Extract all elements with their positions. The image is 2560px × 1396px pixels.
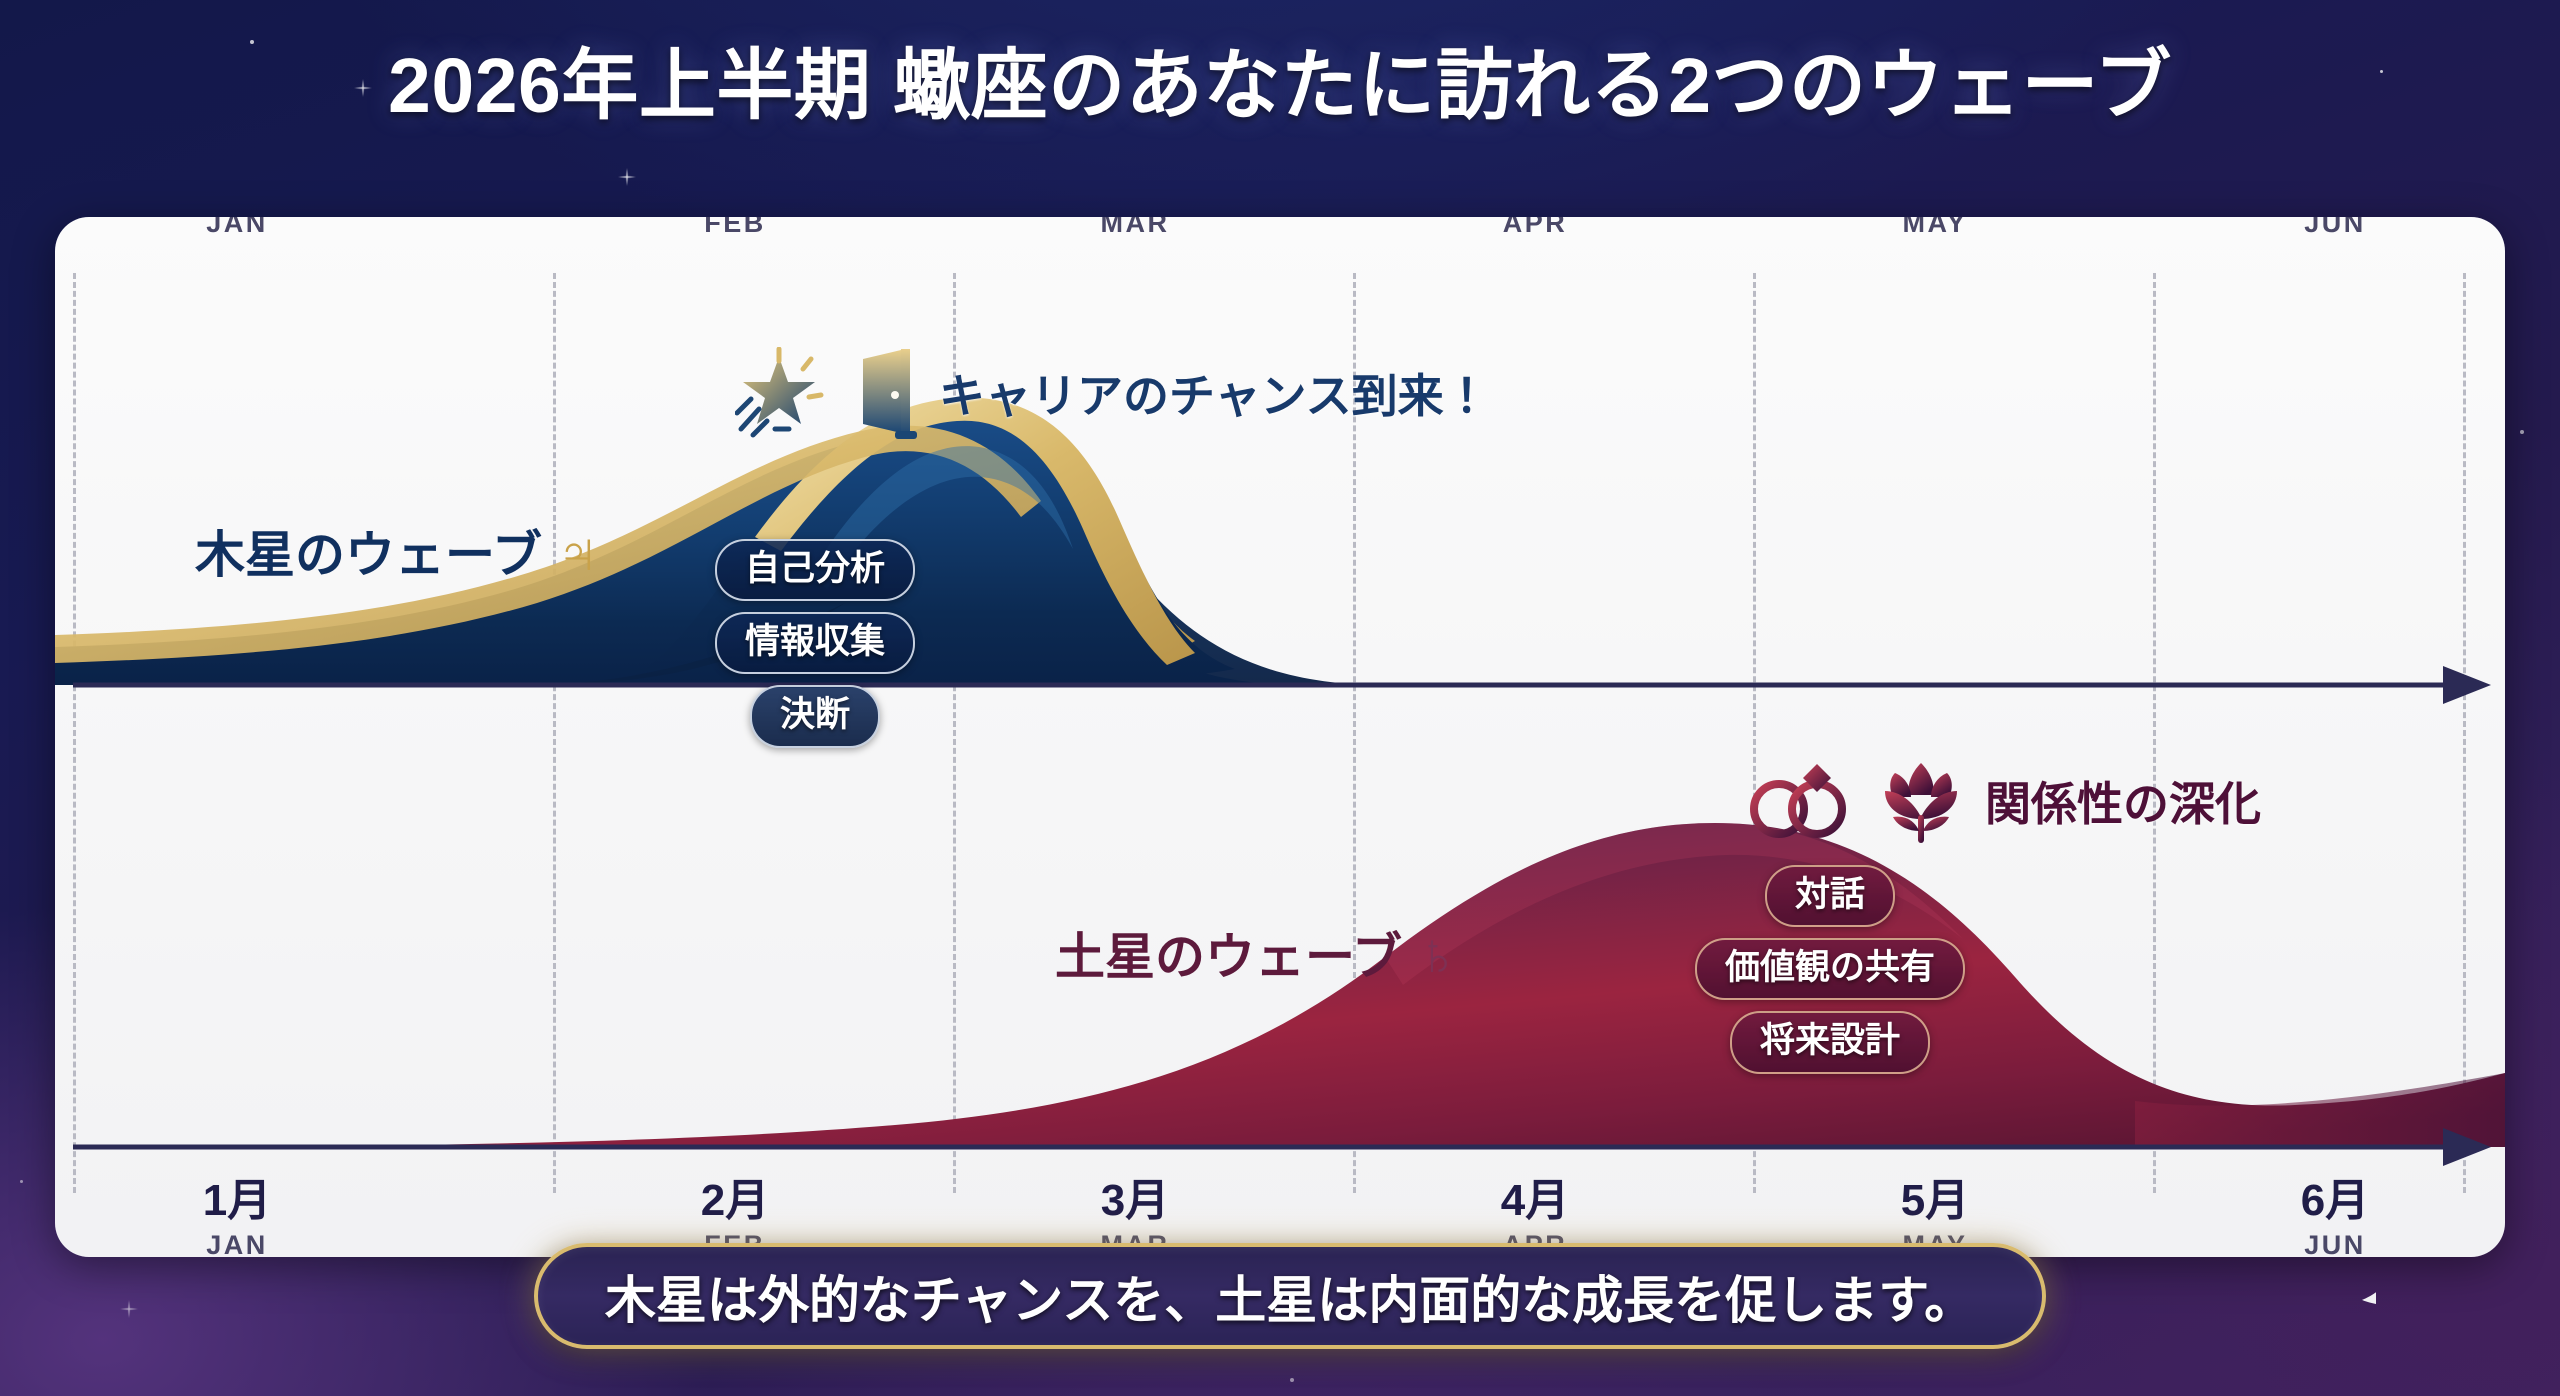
month-jp: 3月 [1035, 1179, 1235, 1223]
jupiter-symbol-icon: ♃ [556, 524, 600, 582]
saturn-callout: 関係性の深化 [1745, 757, 2261, 845]
jupiter-wave-name-text: 木星のウェーブ [195, 515, 542, 587]
jupiter-callout: キャリアのチャンス到来！ [735, 345, 1490, 441]
month-jp: 1月 [137, 1179, 337, 1223]
saturn-axis [73, 1128, 2491, 1166]
month-label-top-jun: 6月 JUN [2235, 217, 2435, 239]
saturn-symbol-icon: ♄ [1416, 926, 1460, 984]
month-jp: 4月 [1435, 1179, 1635, 1223]
jupiter-keyword-pill[interactable]: 情報収集 [715, 612, 915, 674]
open-door-icon [851, 345, 923, 441]
summary-caption-bar: 木星は外的なチャンスを、土星は内面的な成長を促します。 [534, 1243, 2046, 1349]
flower-icon [1873, 757, 1969, 845]
month-label-top-jan: 1月 JAN [137, 217, 337, 239]
gridline-jun [2153, 273, 2156, 1193]
saturn-keyword-pill[interactable]: 価値観の共有 [1695, 938, 1965, 1000]
gridline-end [2463, 273, 2466, 1193]
jupiter-callout-text: キャリアのチャンス到来！ [939, 360, 1490, 426]
jupiter-keyword-stack: 自己分析 情報収集 決断 [715, 539, 915, 748]
saturn-keyword-stack: 対話 価値観の共有 将来設計 [1695, 865, 1965, 1074]
month-label-top-may: 5月 MAY [1835, 217, 2035, 239]
month-label-bottom-jan: 1月 JAN [137, 1179, 337, 1257]
saturn-callout-text: 関係性の深化 [1985, 768, 2261, 834]
month-en: JAN [137, 217, 337, 239]
month-jp: 5月 [1835, 1179, 2035, 1223]
month-en: APR [1435, 217, 1635, 239]
sparkle-star-icon [735, 347, 835, 439]
jupiter-keyword-pill[interactable]: 決断 [750, 685, 880, 747]
card-tail-decoration [2296, 1245, 2376, 1311]
jupiter-keyword-pill[interactable]: 自己分析 [715, 539, 915, 601]
gridline-jan [73, 273, 76, 1193]
month-jp: 2月 [635, 1179, 835, 1223]
saturn-keyword-pill[interactable]: 将来設計 [1730, 1011, 1930, 1073]
jupiter-wave-label: 木星のウェーブ ♃ [195, 515, 600, 587]
sparkle-icon [120, 1300, 138, 1318]
jupiter-axis [73, 666, 2491, 704]
month-label-top-apr: 4月 APR [1435, 217, 1635, 239]
star-dot [1290, 1378, 1294, 1382]
sparkle-icon [610, 160, 644, 194]
month-en: FEB [635, 217, 835, 239]
gridline-feb [553, 273, 556, 1193]
wedding-rings-icon [1745, 762, 1857, 840]
star-dot [20, 1180, 23, 1183]
saturn-wave-name-text: 土星のウェーブ [1055, 917, 1402, 989]
month-en: JUN [2235, 217, 2435, 239]
month-label-top-feb: 2月 FEB [635, 217, 835, 239]
timeline-card: 1月 JAN 2月 FEB 3月 MAR 4月 APR 5月 MAY 6月 JU… [55, 217, 2505, 1257]
month-label-top-mar: 3月 MAR [1035, 217, 1235, 239]
star-dot [2520, 430, 2524, 434]
month-en: MAY [1835, 217, 2035, 239]
month-en: JAN [137, 1230, 337, 1257]
saturn-wave-label: 土星のウェーブ ♄ [1055, 917, 1460, 989]
month-en: MAR [1035, 217, 1235, 239]
page-title: 2026年上半期 蠍座のあなたに訪れる2つのウェーブ [0, 24, 2560, 134]
summary-caption-text: 木星は外的なチャンスを、土星は内面的な成長を促します。 [605, 1259, 1975, 1333]
saturn-keyword-pill[interactable]: 対話 [1765, 865, 1895, 927]
month-jp: 6月 [2235, 1179, 2435, 1223]
